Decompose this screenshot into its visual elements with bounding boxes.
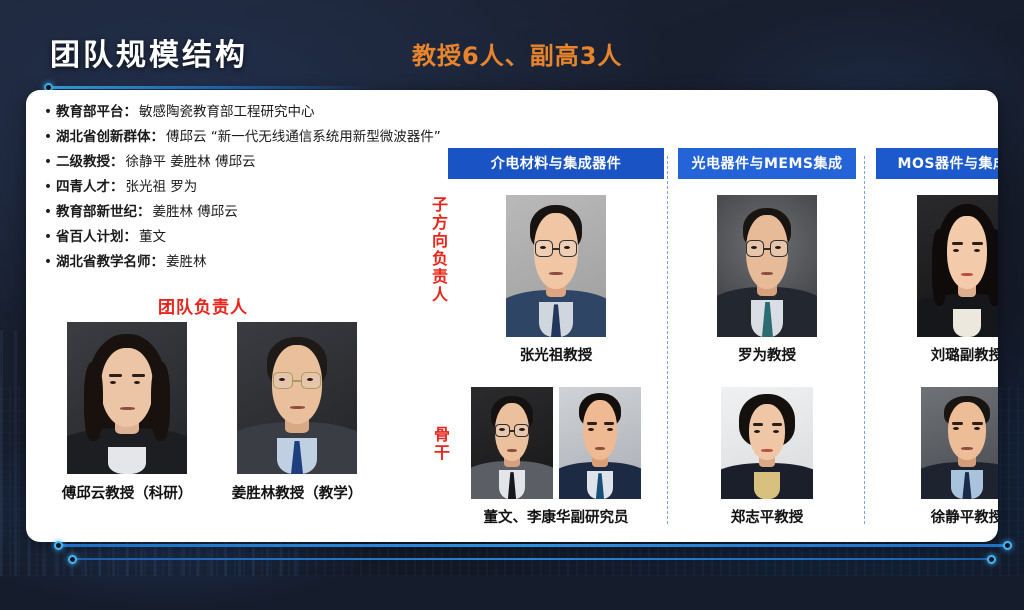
person-card: 徐静平教授 bbox=[876, 387, 998, 527]
leader-name: 姜胜林教授（教学） bbox=[224, 482, 370, 503]
list-item: • 二级教授： 徐静平 姜胜林 傅邱云 bbox=[40, 150, 440, 175]
list-item: • 湖北省创新群体： 傅邱云 “新一代无线通信系统用新型微波器件” bbox=[40, 125, 440, 150]
column-optoelectronic[interactable]: 光电器件与MEMS集成 bbox=[678, 148, 856, 527]
list-item-key: 省百人计划： bbox=[56, 225, 137, 250]
list-item-key: 教育部新世纪： bbox=[56, 200, 151, 225]
portrait-male-blue-shirt bbox=[921, 387, 998, 499]
person-name: 徐静平教授 bbox=[876, 506, 998, 527]
person-name: 罗为教授 bbox=[678, 344, 856, 365]
list-item-key: 教育部平台： bbox=[56, 100, 137, 125]
person-card: 罗为教授 bbox=[678, 195, 856, 365]
team-leader-group: 傅邱云教授（科研） 姜胜林教授（ bbox=[54, 322, 370, 503]
page-title: 团队规模结构 bbox=[50, 30, 248, 74]
column-header: 介电材料与集成器件 bbox=[448, 148, 664, 179]
decorative-line-bottom-2 bbox=[72, 558, 992, 560]
decorative-dot-icon bbox=[1003, 541, 1012, 550]
person-name: 郑志平教授 bbox=[678, 506, 856, 527]
bullet-icon: • bbox=[40, 125, 56, 150]
portrait-male-glasses-black-bg bbox=[471, 387, 553, 499]
person-name: 董文、李康华副研究员 bbox=[448, 506, 664, 527]
list-item-key: 湖北省创新群体： bbox=[56, 125, 164, 150]
decorative-line-top bbox=[48, 86, 378, 89]
leader-name: 傅邱云教授（科研） bbox=[54, 482, 200, 503]
list-item: • 教育部新世纪： 姜胜林 傅邱云 bbox=[40, 200, 440, 225]
bullet-icon: • bbox=[40, 200, 56, 225]
bullet-icon: • bbox=[40, 250, 56, 275]
content-card: • 教育部平台： 敏感陶瓷教育部工程研究中心 • 湖北省创新群体： 傅邱云 “新… bbox=[26, 90, 998, 542]
bullet-icon: • bbox=[40, 150, 56, 175]
label-sub-direction-lead: 子方向负责人 bbox=[426, 196, 450, 304]
portrait-male-glasses-grey-bg bbox=[506, 195, 606, 337]
list-item-value: 敏感陶瓷教育部工程研究中心 bbox=[139, 100, 315, 125]
list-item: • 湖北省教学名师： 姜胜林 bbox=[40, 250, 440, 275]
leader-card: 傅邱云教授（科研） bbox=[54, 322, 200, 503]
list-item-key: 湖北省教学名师： bbox=[56, 250, 164, 275]
column-dielectric[interactable]: 介电材料与集成器件 bbox=[448, 148, 664, 527]
slide-canvas: 团队规模结构 教授6人、副高3人 • 教育部平台： 敏感陶瓷教育部工程研究中心 … bbox=[0, 0, 1024, 576]
portrait-male-glasses-grey-grad bbox=[717, 195, 817, 337]
column-divider bbox=[864, 156, 865, 524]
bullet-icon: • bbox=[40, 100, 56, 125]
bullet-icon: • bbox=[40, 225, 56, 250]
portrait-female-long-hair-black bbox=[917, 195, 998, 337]
list-item-value: 傅邱云 “新一代无线通信系统用新型微波器件” bbox=[166, 125, 441, 150]
person-card: 刘璐副教授 bbox=[876, 195, 998, 365]
person-card: 董文、李康华副研究员 bbox=[448, 387, 664, 527]
bullet-icon: • bbox=[40, 175, 56, 200]
team-leader-heading: 团队负责人 bbox=[158, 293, 248, 318]
direction-columns: 子方向负责人 骨干 介电材料与集成器件 bbox=[424, 148, 990, 542]
list-item: • 四青人才： 张光祖 罗为 bbox=[40, 175, 440, 200]
decorative-dot-icon bbox=[987, 555, 996, 564]
column-header: MOS器件与集成技术 bbox=[876, 148, 998, 179]
list-item-value: 徐静平 姜胜林 傅邱云 bbox=[126, 150, 256, 175]
decorative-dot-icon bbox=[54, 541, 63, 550]
list-item-value: 董文 bbox=[139, 225, 166, 250]
person-card: 张光祖教授 bbox=[448, 195, 664, 365]
list-item-value: 姜胜林 bbox=[166, 250, 207, 275]
portrait-female-dark-suit bbox=[67, 322, 187, 474]
list-item-value: 张光祖 罗为 bbox=[126, 175, 198, 200]
page-subtitle: 教授6人、副高3人 bbox=[412, 36, 622, 71]
decorative-dot-icon bbox=[68, 555, 77, 564]
list-item-key: 四青人才： bbox=[56, 175, 124, 200]
column-mos[interactable]: MOS器件与集成技术 bbox=[876, 148, 998, 527]
person-name: 张光祖教授 bbox=[448, 344, 664, 365]
portrait-female-short-hair-scarf bbox=[721, 387, 813, 499]
column-divider bbox=[667, 156, 668, 524]
list-item-value: 姜胜林 傅邱云 bbox=[153, 200, 238, 225]
portrait-young-male-navy-suit bbox=[559, 387, 641, 499]
photo-pair bbox=[448, 387, 664, 499]
column-header: 光电器件与MEMS集成 bbox=[678, 148, 856, 179]
list-item: • 教育部平台： 敏感陶瓷教育部工程研究中心 bbox=[40, 100, 440, 125]
person-name: 刘璐副教授 bbox=[876, 344, 998, 365]
person-card: 郑志平教授 bbox=[678, 387, 856, 527]
decorative-line-bottom-1 bbox=[58, 544, 1008, 547]
credentials-list: • 教育部平台： 敏感陶瓷教育部工程研究中心 • 湖北省创新群体： 傅邱云 “新… bbox=[40, 100, 440, 275]
leader-card: 姜胜林教授（教学） bbox=[224, 322, 370, 503]
list-item-key: 二级教授： bbox=[56, 150, 124, 175]
portrait-male-glasses-blue-tie bbox=[237, 322, 357, 474]
list-item: • 省百人计划： 董文 bbox=[40, 225, 440, 250]
